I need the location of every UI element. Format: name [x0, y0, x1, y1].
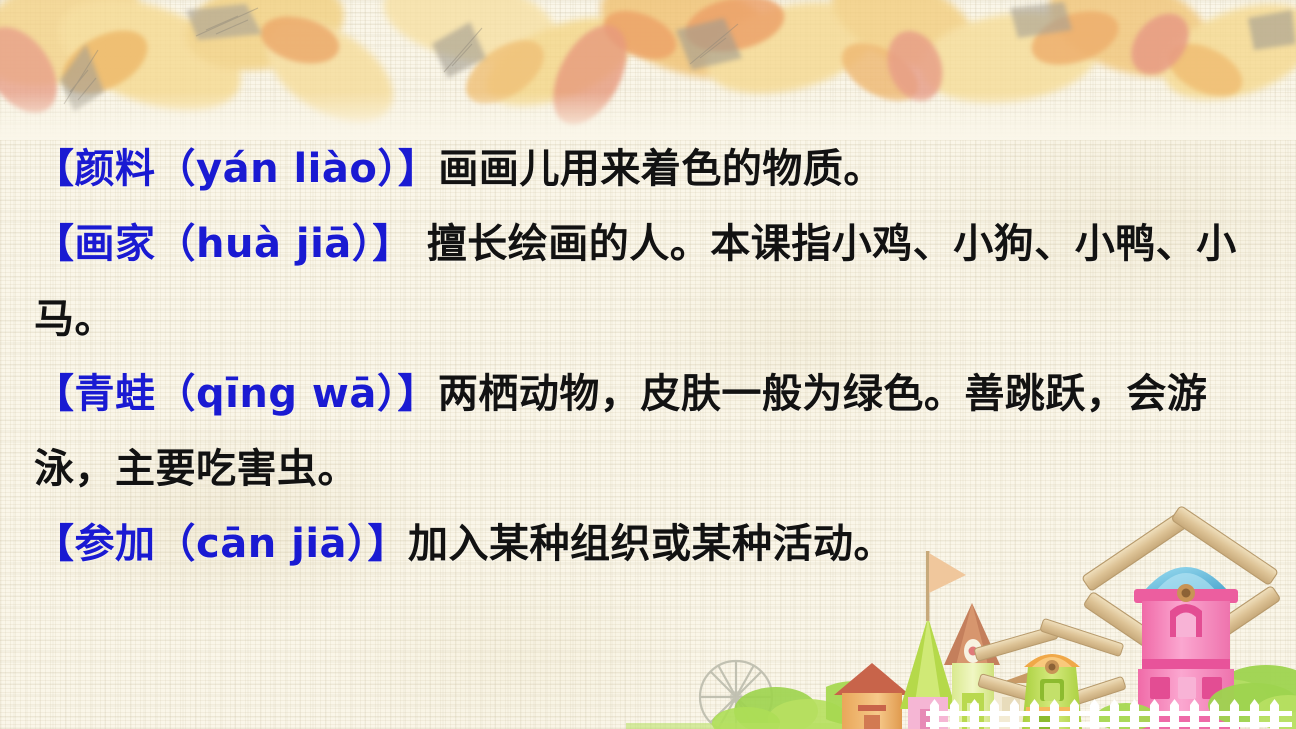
entry-bracket-open: 【	[34, 221, 75, 267]
barn-building	[994, 669, 1068, 729]
vocabulary-entry: 【颜料（yán liào）】画画儿用来着色的物质。	[34, 132, 1262, 207]
green-windmill	[974, 618, 1126, 729]
ferris-wheel-icon	[626, 619, 846, 729]
vocabulary-entry: 【画家（huà jiā）】擅长绘画的人。本课指小鸡、小狗、小鸭、小马。	[34, 207, 1262, 357]
picket-fence	[926, 699, 1292, 729]
entry-pinyin: （qīng wā）	[156, 371, 398, 417]
entry-definition: 画画儿用来着色的物质。	[438, 146, 884, 192]
entry-bracket-close: 】	[397, 371, 438, 417]
entry-word: 参加	[75, 521, 156, 567]
vocabulary-entry: 【参加（cān jiā）】加入某种组织或某种活动。	[34, 507, 1262, 582]
vocabulary-entry: 【青蛙（qīng wā）】两栖动物，皮肤一般为绿色。善跳跃，会游泳，主要吃害虫。	[34, 357, 1262, 507]
entry-pinyin: （yán liào）	[156, 146, 398, 192]
entry-word: 青蛙	[75, 371, 156, 417]
entry-bracket-close: 】	[368, 521, 409, 567]
entry-word: 颜料	[75, 146, 156, 192]
entry-bracket-close: 】	[398, 146, 439, 192]
entry-bracket-open: 【	[34, 371, 75, 417]
entry-bracket-open: 【	[34, 146, 75, 192]
entry-bracket-open: 【	[34, 521, 75, 567]
entry-pinyin: （cān jiā）	[156, 521, 368, 567]
entry-pinyin: （huà jiā）	[156, 221, 373, 267]
entry-bracket-close: 】	[372, 221, 413, 267]
autumn-leaves-border-icon	[0, 0, 1296, 140]
entry-word: 画家	[75, 221, 156, 267]
orange-house	[834, 663, 910, 729]
entry-definition: 加入某种组织或某种活动。	[408, 521, 894, 567]
slide-canvas: 【颜料（yán liào）】画画儿用来着色的物质。 【画家（huà jiā）】擅…	[0, 0, 1296, 729]
vocabulary-definition-list: 【颜料（yán liào）】画画儿用来着色的物质。 【画家（huà jiā）】擅…	[0, 132, 1296, 582]
castle-spire	[944, 603, 1000, 729]
